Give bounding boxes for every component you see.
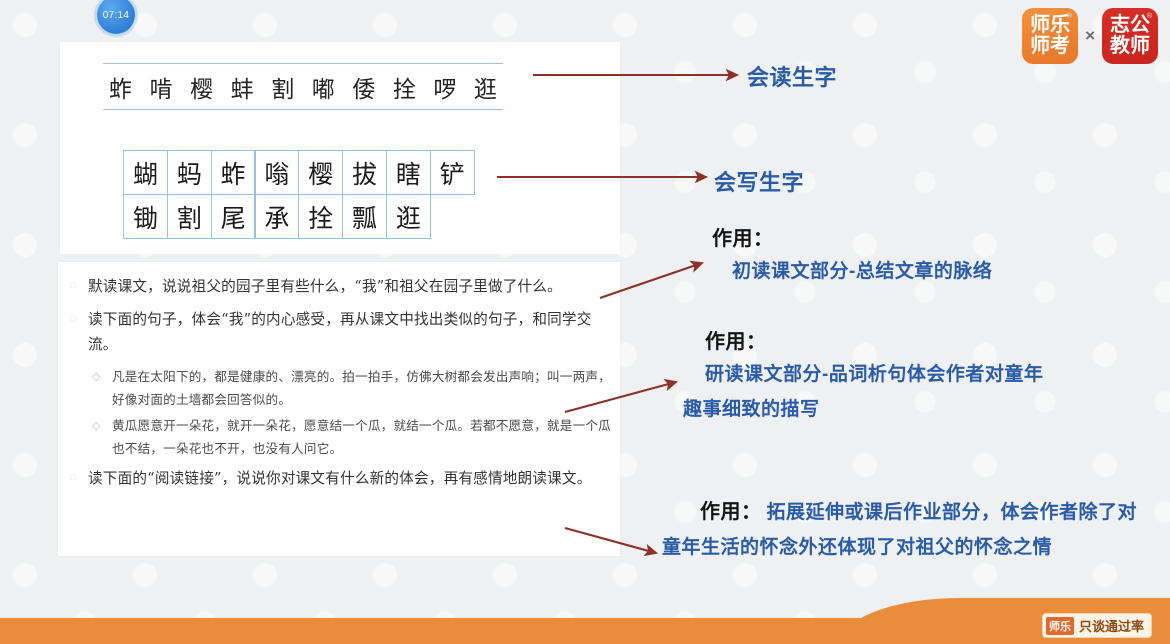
exercise-item: ◌ 默读课文，说说祖父的园子里有些什么，“我”和祖父在园子里做了什么。 [58, 274, 618, 299]
registered-mark-icon: ® [1147, 13, 1152, 20]
exercise-text: 默读课文，说说祖父的园子里有些什么，“我”和祖父在园子里做了什么。 [88, 274, 618, 299]
read-char: 割 [271, 70, 294, 104]
annotation-label: 作用： [700, 501, 762, 523]
timer-badge: 07:14 [97, 0, 135, 34]
circle-bullet-icon: ◌ [58, 274, 88, 299]
read-char: 倭 [352, 70, 375, 104]
annotation-read-label: 会读生字 [747, 60, 837, 92]
exercise-subtext: 凡是在太阳下的，都是健康的、漂亮的。拍一拍手，仿佛大树都会发出声响；叫一两声，好… [112, 365, 618, 411]
write-characters-row-1: 蝴 蚂 蚱 嗡 樱 拔 瞎 铲 [123, 150, 474, 195]
exercise-item: ◌ 读下面的“阅读链接”，说说你对课文有什么新的体会，再有感情地朗读课文。 [58, 466, 618, 491]
watermark: 师乐 只谈通过率 [1042, 613, 1152, 638]
zhigong-logo-line-2: 教师 [1110, 36, 1150, 57]
write-char-cell: 蚱 [211, 150, 256, 195]
write-char-cell: 瓢 [342, 194, 387, 239]
exercise-sublist: ◇ 凡是在太阳下的，都是健康的、漂亮的。拍一拍手，仿佛大树都会发出声响；叫一两声… [92, 365, 618, 460]
shile-logo-line-2: 师考 [1030, 36, 1070, 57]
read-char: 樱 [190, 70, 213, 104]
write-char-cell: 锄 [123, 194, 168, 239]
brand-logos: ® 师乐 师考 × ® 志公 教师 [1022, 8, 1158, 64]
exercise-item: ◌ 读下面的句子，体会“我”的内心感受，再从课文中找出类似的句子，和同学交流。 [58, 307, 618, 357]
write-char-cell: 拴 [298, 194, 343, 239]
watermark-badge: 师乐 [1046, 617, 1074, 635]
annotation-block-1: 作用： 初读课文部分-总结文章的脉络 [712, 224, 1142, 289]
annotation-write-label: 会写生字 [714, 165, 804, 197]
exercise-subitem: ◇ 黄瓜愿意开一朵花，就开一朵花，愿意结一个瓜，就结一个瓜。若都不愿意，就是一个… [92, 414, 618, 460]
write-char-cell: 樱 [298, 150, 343, 195]
annotation-text: 初读课文部分-总结文章的脉络 [732, 254, 1142, 289]
brand-separator-icon: × [1085, 26, 1095, 46]
exercise-subtext: 黄瓜愿意开一朵花，就开一朵花，愿意结一个瓜，就结一个瓜。若都不愿意，就是一个瓜也… [112, 414, 618, 460]
read-char: 蚌 [231, 70, 254, 104]
read-characters-strip: 蚱 啃 樱 蚌 割 嘟 倭 拴 啰 逛 [103, 63, 503, 110]
read-char: 啃 [150, 70, 173, 104]
exercise-text: 读下面的“阅读链接”，说说你对课文有什么新的体会，再有感情地朗读课文。 [88, 466, 618, 491]
watermark-text: 只谈通过率 [1079, 616, 1144, 635]
read-char: 啰 [433, 70, 456, 104]
shile-logo-line-1: 师乐 [1030, 15, 1070, 36]
annotation-text-line-2: 趣事细致的描写 [683, 392, 1133, 427]
read-char: 嘟 [312, 70, 335, 104]
exercise-subitem: ◇ 凡是在太阳下的，都是健康的、漂亮的。拍一拍手，仿佛大树都会发出声响；叫一两声… [92, 365, 618, 411]
write-characters-row-2: 锄 割 尾 承 拴 瓢 逛 [123, 194, 430, 239]
shile-logo: ® 师乐 师考 [1022, 8, 1078, 64]
registered-mark-icon: ® [1067, 13, 1072, 20]
circle-bullet-icon: ◌ [58, 307, 88, 357]
write-char-cell: 尾 [211, 194, 256, 239]
write-char-cell: 瞎 [386, 150, 431, 195]
write-char-cell: 嗡 [254, 150, 299, 195]
annotation-block-2: 作用： 研读课文部分-品词析句体会作者对童年 趣事细致的描写 [683, 327, 1133, 427]
exercises-list: ◌ 默读课文，说说祖父的园子里有些什么，“我”和祖父在园子里做了什么。 ◌ 读下… [58, 274, 618, 499]
annotation-label: 作用： [712, 224, 1142, 254]
annotation-text-line-1: 研读课文部分-品词析句体会作者对童年 [705, 357, 1133, 392]
write-char-cell: 割 [167, 194, 212, 239]
write-char-cell: 蝴 [123, 150, 168, 195]
diamond-bullet-icon: ◇ [92, 414, 112, 460]
write-char-cell: 蚂 [167, 150, 212, 195]
annotation-read-text: 会读生字 [747, 65, 837, 90]
zhigong-logo: ® 志公 教师 [1102, 8, 1158, 64]
annotation-block-3: 作用： 拓展延伸或课后作业部分，体会作者除了对童年生活的怀念外还体现了对祖父的怀… [662, 495, 1142, 565]
read-char: 逛 [474, 70, 497, 104]
diamond-bullet-icon: ◇ [92, 365, 112, 411]
circle-bullet-icon: ◌ [58, 466, 88, 491]
timer-label: 07:14 [103, 10, 130, 21]
annotation-label: 作用： [705, 327, 1133, 357]
slide-canvas: 07:14 蚱 啃 樱 蚌 割 嘟 倭 拴 啰 逛 蝴 蚂 蚱 嗡 樱 拔 瞎 … [0, 0, 1170, 644]
write-char-cell: 承 [254, 194, 299, 239]
read-char: 拴 [393, 70, 416, 104]
zhigong-logo-line-1: 志公 [1110, 15, 1150, 36]
write-char-cell: 拔 [342, 150, 387, 195]
exercise-text: 读下面的句子，体会“我”的内心感受，再从课文中找出类似的句子，和同学交流。 [88, 307, 618, 357]
read-char: 蚱 [109, 70, 132, 104]
write-char-cell: 铲 [430, 150, 475, 195]
write-char-cell: 逛 [386, 194, 431, 239]
annotation-write-text: 会写生字 [714, 170, 804, 195]
